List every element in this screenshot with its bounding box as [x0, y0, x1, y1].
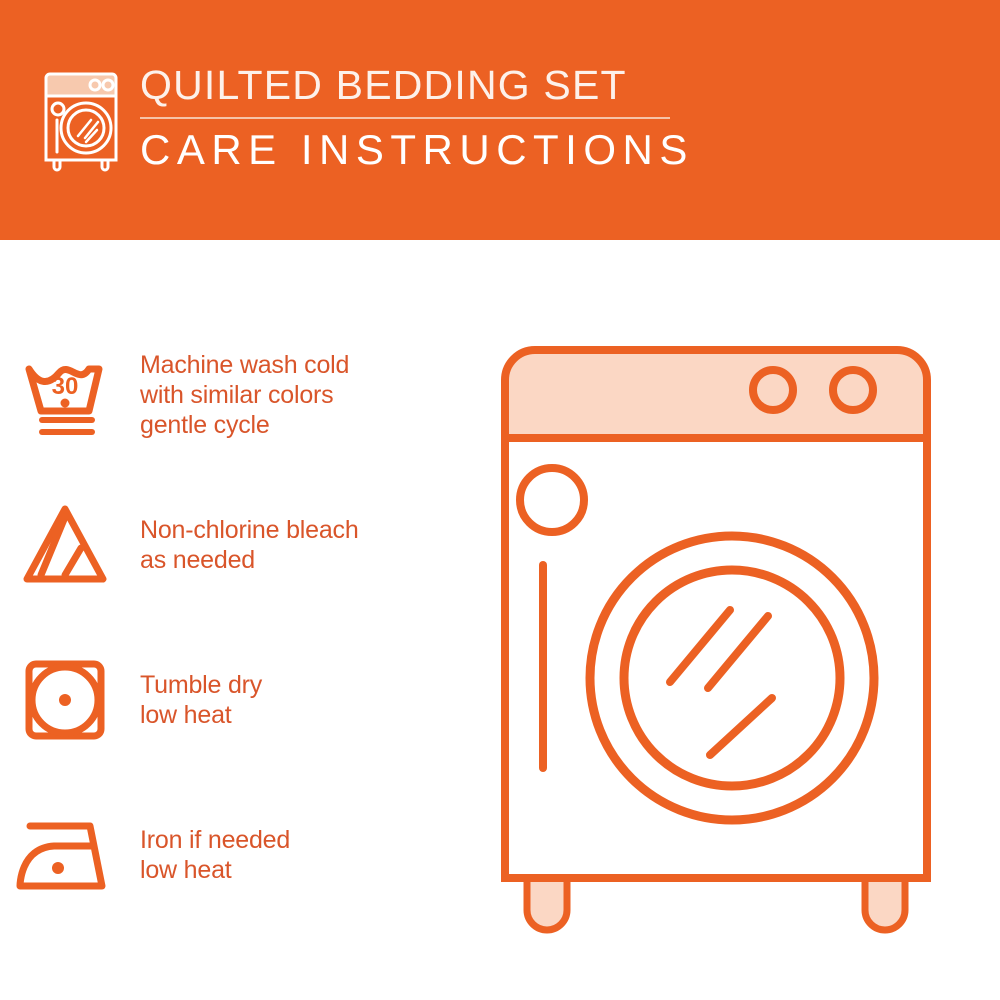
care-text-line: Non-chlorine bleach	[140, 515, 359, 545]
machine-wash-basin-icon: 30	[0, 340, 130, 450]
care-instruction-row: 30 Machine wash cold with similar colors…	[0, 340, 480, 450]
care-instruction-row: Non-chlorine bleach as needed	[0, 490, 480, 600]
care-text-line: Iron if needed	[140, 825, 290, 855]
care-instruction-text: Tumble dry low heat	[130, 670, 262, 730]
care-instruction-text: Iron if needed low heat	[130, 825, 290, 885]
care-text-line: low heat	[140, 855, 290, 885]
washing-machine-illustration	[480, 320, 980, 950]
page-title: QUILTED BEDDING SET	[140, 62, 694, 108]
care-text-line: Tumble dry	[140, 670, 262, 700]
wash-temperature-label: 30	[52, 373, 79, 400]
care-instruction-row: Iron if needed low heat	[0, 800, 480, 910]
care-instruction-text: Machine wash cold with similar colors ge…	[130, 350, 349, 440]
tumble-dry-low-heat-icon	[0, 645, 130, 755]
care-text-line: low heat	[140, 700, 262, 730]
care-text-line: gentle cycle	[140, 410, 349, 440]
care-text-line: with similar colors	[140, 380, 349, 410]
header-content: QUILTED BEDDING SET CARE INSTRUCTIONS	[44, 62, 694, 174]
non-chlorine-bleach-triangle-icon	[0, 490, 130, 600]
iron-low-heat-icon	[0, 800, 130, 910]
machine-body	[505, 438, 927, 878]
care-instruction-text: Non-chlorine bleach as needed	[130, 515, 359, 575]
control-panel	[505, 350, 927, 440]
header-titles: QUILTED BEDDING SET CARE INSTRUCTIONS	[140, 62, 694, 174]
page-subtitle: CARE INSTRUCTIONS	[140, 126, 694, 174]
care-instruction-row: Tumble dry low heat	[0, 645, 480, 755]
care-text-line: as needed	[140, 545, 359, 575]
care-instructions-list: 30 Machine wash cold with similar colors…	[0, 240, 480, 1000]
header-banner: QUILTED BEDDING SET CARE INSTRUCTIONS	[0, 0, 1000, 240]
care-text-line: Machine wash cold	[140, 350, 349, 380]
washing-machine-icon	[44, 68, 118, 172]
title-divider	[140, 117, 670, 119]
